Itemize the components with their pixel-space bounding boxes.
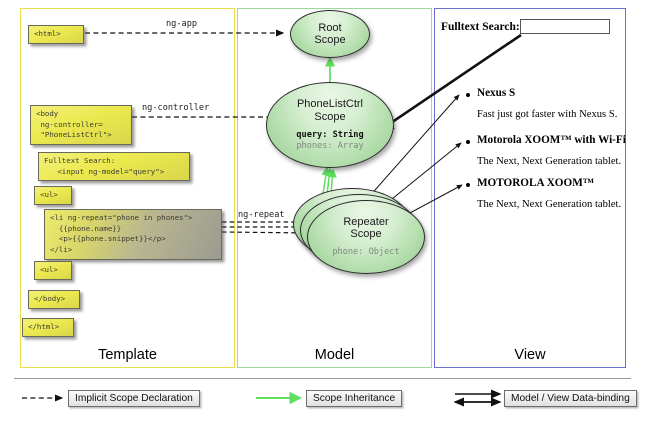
scope-phonelistctrl-title-2: Scope <box>314 111 345 123</box>
view-item-name-2: Motorola XOOM™ with Wi-Fi <box>477 134 626 146</box>
panel-view-label: View <box>435 347 625 363</box>
view-item-snippet-3: The Next, Next Generation tablet. <box>477 199 621 210</box>
code-box-html-close[interactable]: </html> <box>22 318 74 337</box>
code-box-body-close[interactable]: </body> <box>28 290 80 309</box>
view-item-snippet-1: Fast just got faster with Nexus S. <box>477 109 617 120</box>
scope-phonelistctrl-prop-phones: phones: Array <box>296 141 363 152</box>
view-item-name-3: MOTOROLA XOOM™ <box>477 177 594 189</box>
code-box-html-open[interactable]: <html> <box>28 25 84 44</box>
scope-phonelistctrl-title-1: PhoneListCtrl <box>297 98 363 110</box>
panel-model: Model <box>237 8 432 368</box>
legend-scope-inheritance: Scope Inheritance <box>306 390 402 407</box>
edge-label-ng-repeat: ng-repeat <box>238 210 285 220</box>
scope-phonelistctrl[interactable]: PhoneListCtrl Scope query: String phones… <box>266 82 394 168</box>
view-item-name-1: Nexus S <box>477 87 515 99</box>
edge-label-ng-app: ng-app <box>166 19 197 29</box>
view-item-snippet-2: The Next, Next Generation tablet. <box>477 156 621 167</box>
scope-repeater-prop-phone: phone: Object <box>332 247 399 258</box>
list-bullet-1 <box>466 93 470 97</box>
scope-repeater[interactable]: Repeater Scope phone: Object <box>307 200 425 274</box>
scope-root-title-2: Scope <box>314 34 345 46</box>
list-bullet-2 <box>466 140 470 144</box>
panel-model-label: Model <box>238 347 431 363</box>
legend-implicit-scope-declaration: Implicit Scope Declaration <box>68 390 200 407</box>
fulltext-search-label: Fulltext Search: <box>441 21 520 33</box>
fulltext-search-input[interactable] <box>520 19 610 34</box>
code-box-body-open[interactable]: <body ng-controller= "PhoneListCtrl"> <box>30 105 132 145</box>
code-box-ul-open[interactable]: <ul> <box>34 186 72 205</box>
edge-label-ng-controller: ng-controller <box>142 103 209 113</box>
scope-repeater-title-1: Repeater <box>343 216 388 228</box>
code-box-search-input-markup[interactable]: Fulltext Search: <input ng-model="query"… <box>38 152 190 181</box>
scope-root[interactable]: Root Scope <box>290 10 370 58</box>
scope-phonelistctrl-prop-query: query: String <box>296 130 363 141</box>
legend-model-view-data-binding: Model / View Data-binding <box>504 390 637 407</box>
legend-glyph-model-view-data-binding <box>455 394 500 402</box>
legend-divider <box>14 378 631 379</box>
list-bullet-3 <box>466 183 470 187</box>
code-box-li-repeat[interactable]: <li ng-repeat="phone in phones"> {{phone… <box>44 209 222 260</box>
scope-repeater-title-2: Scope <box>350 228 381 240</box>
panel-template-label: Template <box>21 347 234 363</box>
code-box-ul-close[interactable]: <ul> <box>34 261 72 280</box>
scope-root-title-1: Root <box>318 22 341 34</box>
